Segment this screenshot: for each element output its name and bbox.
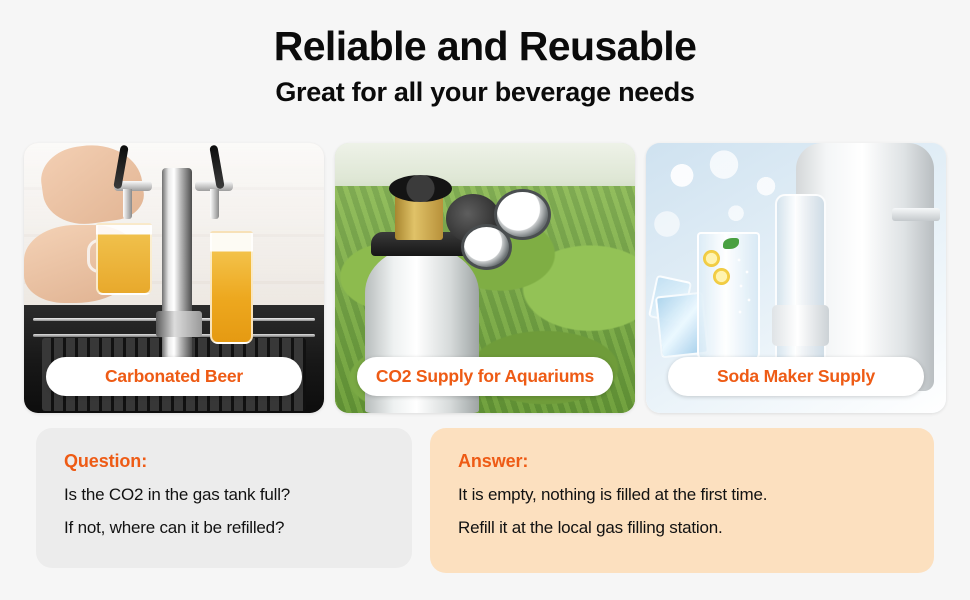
photo-tap-tower-base [156, 311, 202, 337]
photo-bubbles [735, 254, 755, 342]
product-card-row: Carbonated Beer CO2 Supply for Aquariums [24, 143, 946, 413]
answer-line-2: Refill it at the local gas filling stati… [458, 519, 910, 536]
product-card-label-pill: CO2 Supply for Aquariums [357, 357, 613, 396]
product-card-carbonated-beer[interactable]: Carbonated Beer [24, 143, 324, 413]
answer-line-1: It is empty, nothing is filled at the fi… [458, 486, 910, 503]
question-line-1: Is the CO2 in the gas tank full? [64, 486, 388, 503]
photo-spout-right [210, 189, 219, 219]
product-card-label-text: CO2 Supply for Aquariums [376, 366, 594, 387]
photo-beer-mug [96, 223, 152, 295]
photo-spout-left [123, 189, 132, 219]
header: Reliable and Reusable Great for all your… [0, 0, 970, 108]
photo-lemon-slice-lower [713, 268, 730, 285]
product-card-soda-maker[interactable]: Soda Maker Supply [646, 143, 946, 413]
photo-bottle-base-cap [772, 305, 829, 346]
photo-tap-tower [162, 168, 192, 368]
question-line-2: If not, where can it be refilled? [64, 519, 388, 536]
product-card-label-text: Carbonated Beer [105, 366, 243, 387]
answer-box: Answer: It is empty, nothing is filled a… [430, 428, 934, 573]
photo-lemon-slice-upper [703, 250, 720, 267]
question-title: Question: [64, 451, 388, 472]
product-card-co2-aquarium[interactable]: CO2 Supply for Aquariums [335, 143, 635, 413]
answer-title: Answer: [458, 451, 910, 472]
qa-section: Question: Is the CO2 in the gas tank ful… [36, 428, 934, 573]
photo-beer-glass [210, 231, 253, 344]
photo-pressure-gauge-low [461, 224, 512, 270]
page-title: Reliable and Reusable [0, 24, 970, 70]
product-card-label-pill: Carbonated Beer [46, 357, 302, 396]
photo-sparkling-water-glass [697, 232, 760, 362]
photo-mint-garnish [723, 238, 739, 249]
product-card-label-pill: Soda Maker Supply [668, 357, 924, 396]
photo-machine-nozzle [892, 208, 940, 222]
question-box: Question: Is the CO2 in the gas tank ful… [36, 428, 412, 568]
page-subtitle: Great for all your beverage needs [0, 77, 970, 108]
product-card-label-text: Soda Maker Supply [717, 366, 875, 387]
